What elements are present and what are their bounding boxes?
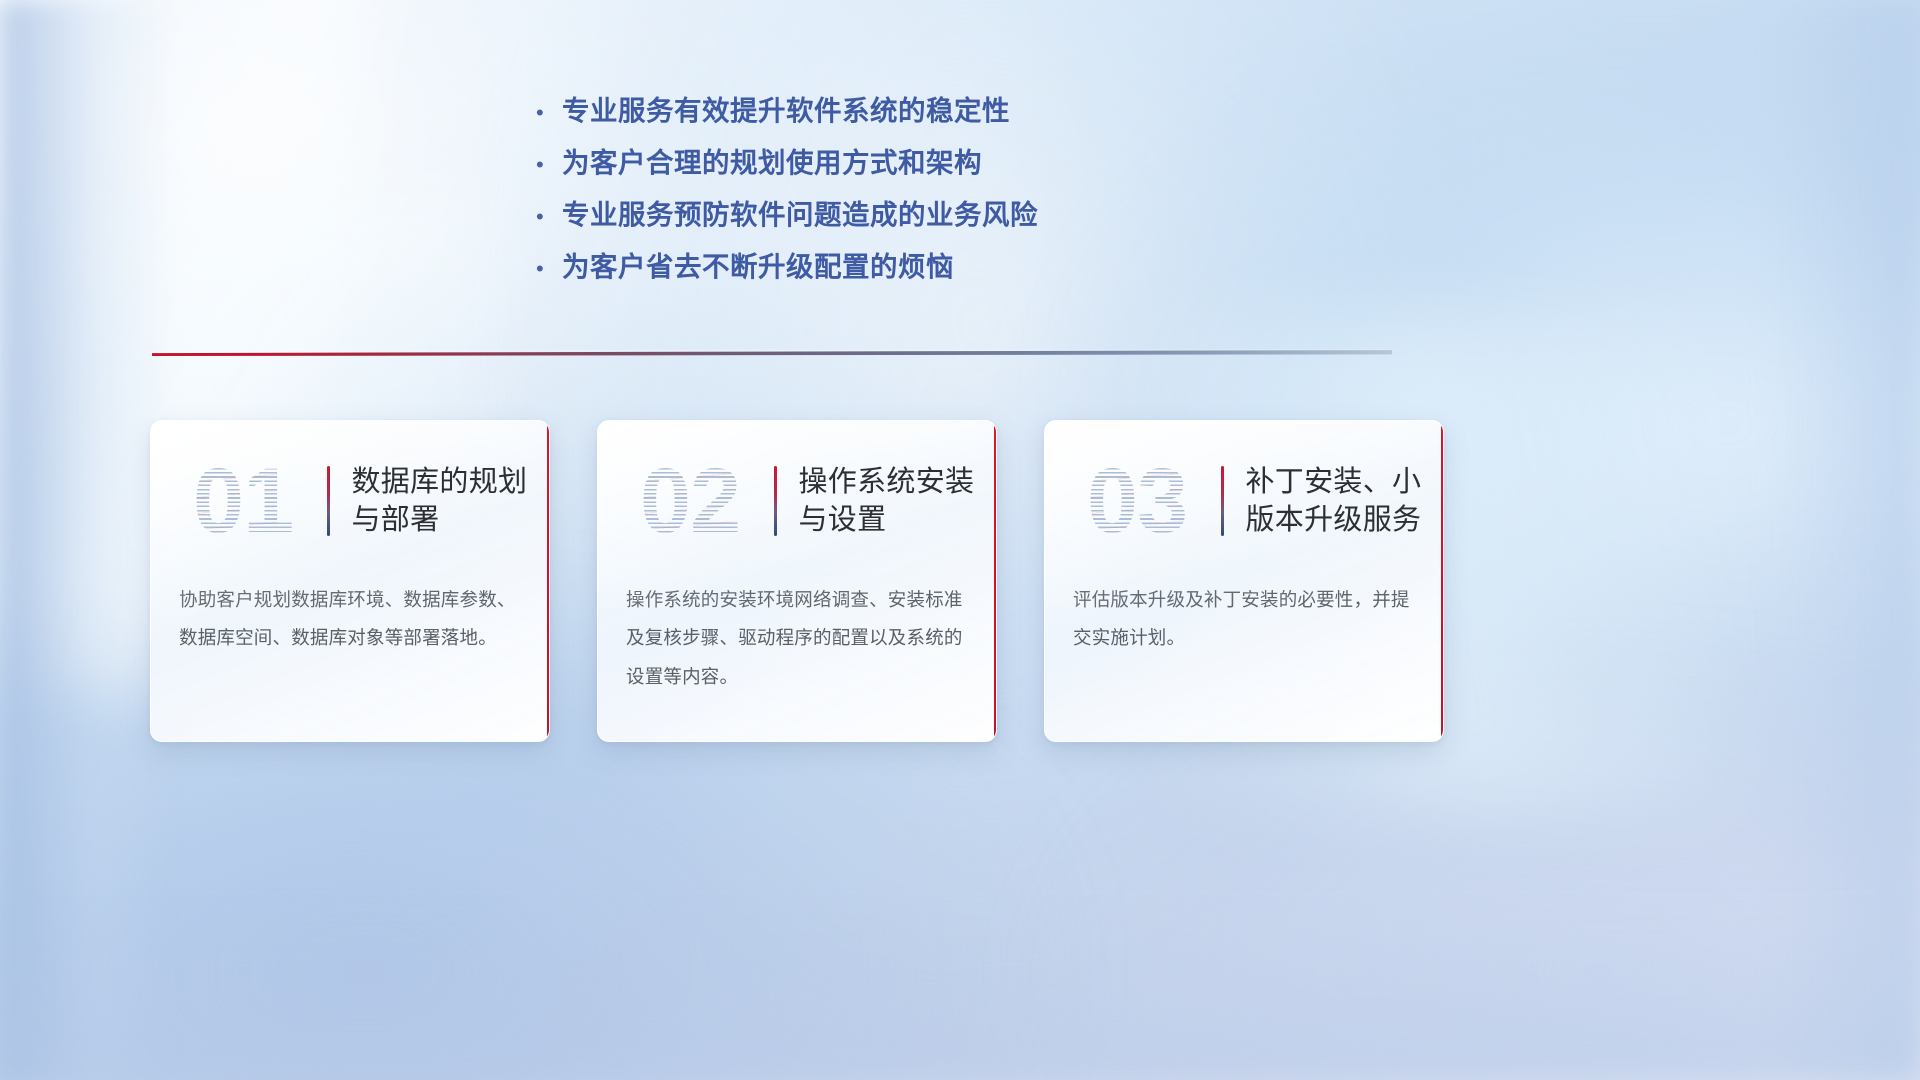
card-title: 数据库的规划与部署 [352, 463, 550, 540]
card-header: 0202 操作系统安装与设置 [598, 421, 996, 581]
card-number-watermark: 0101 [169, 451, 317, 551]
card-number-watermark-tint: 02 [616, 451, 764, 551]
card-number-watermark-tint: 03 [1063, 451, 1211, 551]
card-header: 0101 数据库的规划与部署 [151, 421, 549, 581]
service-card-03[interactable]: 0303 补丁安装、小版本升级服务 评估版本升级及补丁安装的必要性，并提交实施计… [1044, 420, 1444, 742]
bullet-dot-icon: • [536, 258, 562, 280]
bullet-dot-icon: • [536, 154, 562, 176]
service-card-group: 0101 数据库的规划与部署 协助客户规划数据库环境、数据库参数、数据库空间、数… [150, 420, 1444, 742]
benefits-bullet-list: • 专业服务有效提升软件系统的稳定性 • 为客户合理的规划使用方式和架构 • 专… [536, 88, 1356, 296]
card-accent-bar [774, 466, 777, 536]
card-number-watermark: 0303 [1063, 451, 1211, 551]
bullet-text: 专业服务预防软件问题造成的业务风险 [562, 192, 1038, 232]
list-item: • 为客户省去不断升级配置的烦恼 [536, 244, 1356, 296]
card-title: 操作系统安装与设置 [799, 463, 997, 540]
bullet-dot-icon: • [536, 102, 562, 124]
bullet-text: 专业服务有效提升软件系统的稳定性 [562, 88, 1010, 128]
list-item: • 为客户合理的规划使用方式和架构 [536, 140, 1356, 192]
card-accent-bar [1221, 466, 1224, 536]
bullet-dot-icon: • [536, 206, 562, 228]
background-bottom-vignette [0, 907, 1920, 1080]
service-card-02[interactable]: 0202 操作系统安装与设置 操作系统的安装环境网络调查、安装标准及复核步骤、驱… [597, 420, 997, 742]
card-accent-bar [327, 466, 330, 536]
list-item: • 专业服务预防软件问题造成的业务风险 [536, 192, 1356, 244]
bullet-text: 为客户合理的规划使用方式和架构 [562, 140, 982, 180]
card-header: 0303 补丁安装、小版本升级服务 [1045, 421, 1443, 581]
card-number-watermark: 0202 [616, 451, 764, 551]
service-card-01[interactable]: 0101 数据库的规划与部署 协助客户规划数据库环境、数据库参数、数据库空间、数… [150, 420, 550, 742]
card-description: 操作系统的安装环境网络调查、安装标准及复核步骤、驱动程序的配置以及系统的设置等内… [598, 581, 996, 696]
card-description: 评估版本升级及补丁安装的必要性，并提交实施计划。 [1045, 581, 1443, 658]
list-item: • 专业服务有效提升软件系统的稳定性 [536, 88, 1356, 140]
card-description: 协助客户规划数据库环境、数据库参数、数据库空间、数据库对象等部署落地。 [151, 581, 549, 658]
bullet-text: 为客户省去不断升级配置的烦恼 [562, 244, 954, 284]
section-divider [152, 346, 1392, 362]
card-title: 补丁安装、小版本升级服务 [1246, 463, 1444, 540]
card-number-watermark-tint: 01 [169, 451, 317, 551]
